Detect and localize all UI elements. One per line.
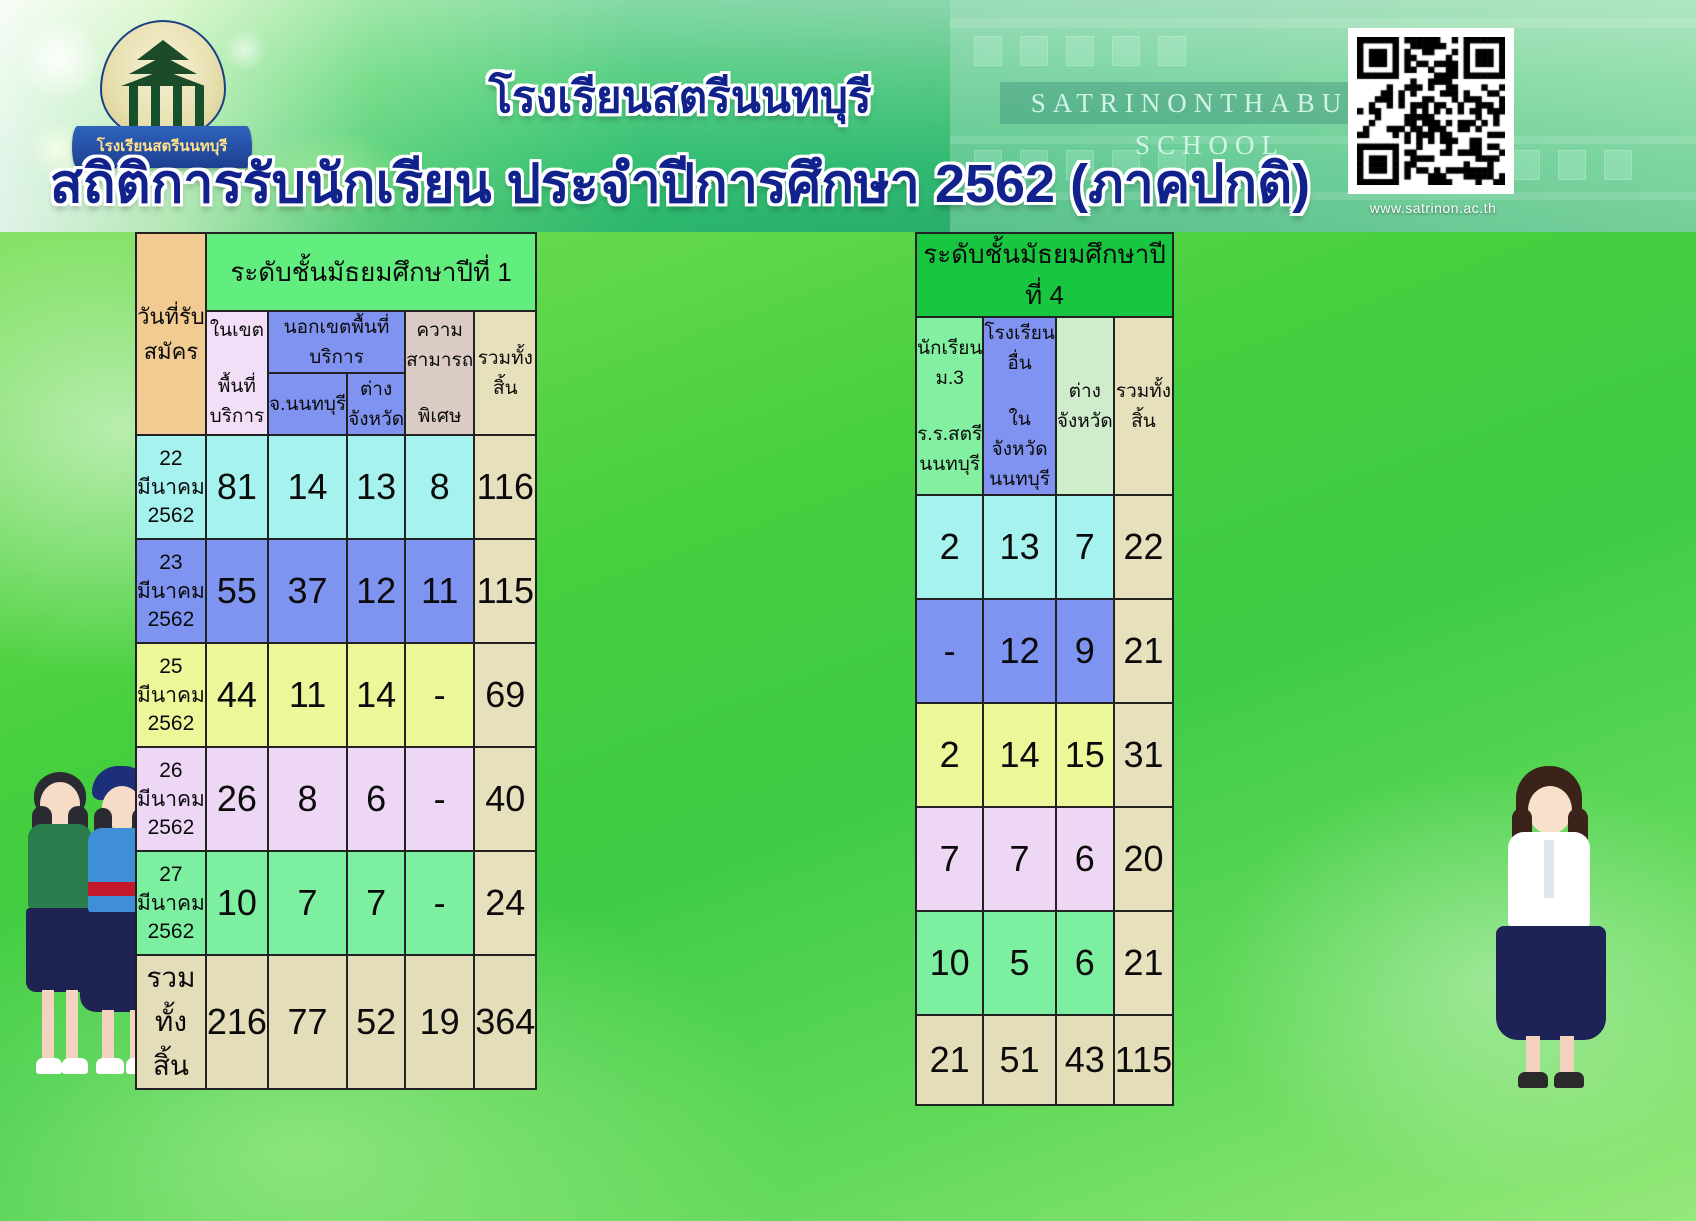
table-row-total: รวมทั้งสิ้น 216 77 52 19 364: [136, 955, 536, 1089]
header-group-m4: ระดับชั้นมัธยมศึกษาปีที่ 4: [916, 233, 1173, 317]
cell-total: 40: [474, 747, 536, 851]
cell-province: 7: [1056, 495, 1114, 599]
page-title-line2: สถิติการรับนักเรียน ประจำปีการศึกษา 2562…: [0, 140, 1360, 226]
cell-total: 115: [474, 539, 536, 643]
cell-total-province: 43: [1056, 1015, 1114, 1105]
header-date-column: วันที่รับสมัคร: [136, 233, 206, 435]
cell-province: 6: [1056, 911, 1114, 1015]
header-out-zone-group: นอกเขตพื้นที่บริการ: [268, 311, 405, 373]
header-m3-line1: นักเรียน ม.3: [917, 333, 982, 393]
cell-total-other-school: 51: [983, 1015, 1056, 1105]
mascot-student-right: [1480, 760, 1640, 1100]
table-row: 23 มีนาคม 2562 55 37 12 11 115: [136, 539, 536, 643]
header-special-line1: ความสามารถ: [406, 315, 473, 375]
page-frame: SATRINONTHABURI SCHOOL โรงเรียนสตรีนนทบุ…: [0, 0, 1696, 1221]
cell-m3: -: [916, 599, 983, 703]
cell-date: 26 มีนาคม 2562: [136, 747, 206, 851]
cell-nonthaburi: 7: [268, 851, 347, 955]
header-other-line2: ในจังหวัดนนทบุรี: [984, 404, 1055, 494]
cell-other-school: 12: [983, 599, 1056, 703]
table-row: - 12 9 21: [916, 599, 1173, 703]
cell-province: 6: [347, 747, 405, 851]
table-row: 2 14 15 31: [916, 703, 1173, 807]
table-mathayom-4: ระดับชั้นมัธยมศึกษาปีที่ 4 นักเรียน ม.3 …: [915, 232, 1174, 1106]
header-banner: SATRINONTHABURI SCHOOL โรงเรียนสตรีนนทบุ…: [0, 0, 1696, 232]
header-m3-line2: ร.ร.สตรีนนทบุรี: [917, 419, 982, 479]
header-in-zone-line1: ในเขต: [207, 315, 267, 345]
cell-in-zone: 81: [206, 435, 268, 539]
cell-total: 69: [474, 643, 536, 747]
header-province-m4: ต่างจังหวัด: [1056, 317, 1114, 495]
cell-nonthaburi: 14: [268, 435, 347, 539]
table-row: 22 มีนาคม 2562 81 14 13 8 116: [136, 435, 536, 539]
cell-special: -: [405, 643, 474, 747]
cell-grand-total: 364: [474, 955, 536, 1089]
cell-total: 31: [1114, 703, 1173, 807]
cell-total: 20: [1114, 807, 1173, 911]
table-row: 27 มีนาคม 2562 10 7 7 - 24: [136, 851, 536, 955]
header-in-zone-line2: พื้นที่บริการ: [207, 371, 267, 431]
cell-other-school: 7: [983, 807, 1056, 911]
cell-province: 14: [347, 643, 405, 747]
header-other-school: โรงเรียนอื่น ในจังหวัดนนทบุรี: [983, 317, 1056, 495]
cell-province: 6: [1056, 807, 1114, 911]
cell-province: 9: [1056, 599, 1114, 703]
cell-in-zone: 55: [206, 539, 268, 643]
header-out-province: ต่างจังหวัด: [347, 373, 405, 435]
cell-special: -: [405, 851, 474, 955]
cell-total: 21: [1114, 911, 1173, 1015]
cell-m3: 10: [916, 911, 983, 1015]
cell-in-zone: 10: [206, 851, 268, 955]
qr-code[interactable]: [1348, 28, 1514, 194]
cell-special: 8: [405, 435, 474, 539]
table-row: 25 มีนาคม 2562 44 11 14 - 69: [136, 643, 536, 747]
website-url: www.satrinon.ac.th: [1348, 200, 1518, 216]
qr-code-canvas: [1357, 37, 1505, 185]
cell-date: 25 มีนาคม 2562: [136, 643, 206, 747]
cell-total-province: 52: [347, 955, 405, 1089]
table-row-subheader: นักเรียน ม.3 ร.ร.สตรีนนทบุรี โรงเรียนอื่…: [916, 317, 1173, 495]
cell-nonthaburi: 11: [268, 643, 347, 747]
cell-province: 15: [1056, 703, 1114, 807]
cell-total: 21: [1114, 599, 1173, 703]
table-row: 2 13 7 22: [916, 495, 1173, 599]
cell-total-special: 19: [405, 955, 474, 1089]
table-mathayom-1: วันที่รับสมัคร ระดับชั้นมัธยมศึกษาปีที่ …: [135, 232, 537, 1090]
cell-special: 11: [405, 539, 474, 643]
page-title-line1: โรงเรียนสตรีนนทบุรี: [0, 62, 1360, 132]
header-special-line2: พิเศษ: [406, 401, 473, 431]
header-out-nonthaburi: จ.นนทบุรี: [268, 373, 347, 435]
table-row-group-header: ระดับชั้นมัธยมศึกษาปีที่ 4: [916, 233, 1173, 317]
cell-m3: 2: [916, 495, 983, 599]
cell-in-zone: 44: [206, 643, 268, 747]
cell-total: 22: [1114, 495, 1173, 599]
header-special-ability: ความสามารถ พิเศษ: [405, 311, 474, 435]
table-row-total: 21 51 43 115: [916, 1015, 1173, 1105]
cell-date: 22 มีนาคม 2562: [136, 435, 206, 539]
cell-special: -: [405, 747, 474, 851]
cell-other-school: 5: [983, 911, 1056, 1015]
cell-date: 27 มีนาคม 2562: [136, 851, 206, 955]
cell-total-nonthaburi: 77: [268, 955, 347, 1089]
cell-grand-total: 115: [1114, 1015, 1173, 1105]
cell-province: 7: [347, 851, 405, 955]
cell-other-school: 14: [983, 703, 1056, 807]
cell-total: 24: [474, 851, 536, 955]
cell-total: 116: [474, 435, 536, 539]
cell-m3: 7: [916, 807, 983, 911]
table-row: 10 5 6 21: [916, 911, 1173, 1015]
header-total-m1: รวมทั้งสิ้น: [474, 311, 536, 435]
cell-m3: 2: [916, 703, 983, 807]
table-row: 7 7 6 20: [916, 807, 1173, 911]
cell-in-zone: 26: [206, 747, 268, 851]
header-in-zone: ในเขต พื้นที่บริการ: [206, 311, 268, 435]
header-m3-students: นักเรียน ม.3 ร.ร.สตรีนนทบุรี: [916, 317, 983, 495]
header-group-m1: ระดับชั้นมัธยมศึกษาปีที่ 1: [206, 233, 536, 311]
cell-other-school: 13: [983, 495, 1056, 599]
cell-total-label: รวมทั้งสิ้น: [136, 955, 206, 1089]
header-total-m4: รวมทั้งสิ้น: [1114, 317, 1173, 495]
cell-province: 13: [347, 435, 405, 539]
cell-nonthaburi: 37: [268, 539, 347, 643]
cell-total-m3: 21: [916, 1015, 983, 1105]
cell-date: 23 มีนาคม 2562: [136, 539, 206, 643]
header-other-line1: โรงเรียนอื่น: [984, 318, 1055, 378]
cell-total-in-zone: 216: [206, 955, 268, 1089]
cell-province: 12: [347, 539, 405, 643]
cell-nonthaburi: 8: [268, 747, 347, 851]
table-row-group-header: วันที่รับสมัคร ระดับชั้นมัธยมศึกษาปีที่ …: [136, 233, 536, 311]
table-row: 26 มีนาคม 2562 26 8 6 - 40: [136, 747, 536, 851]
